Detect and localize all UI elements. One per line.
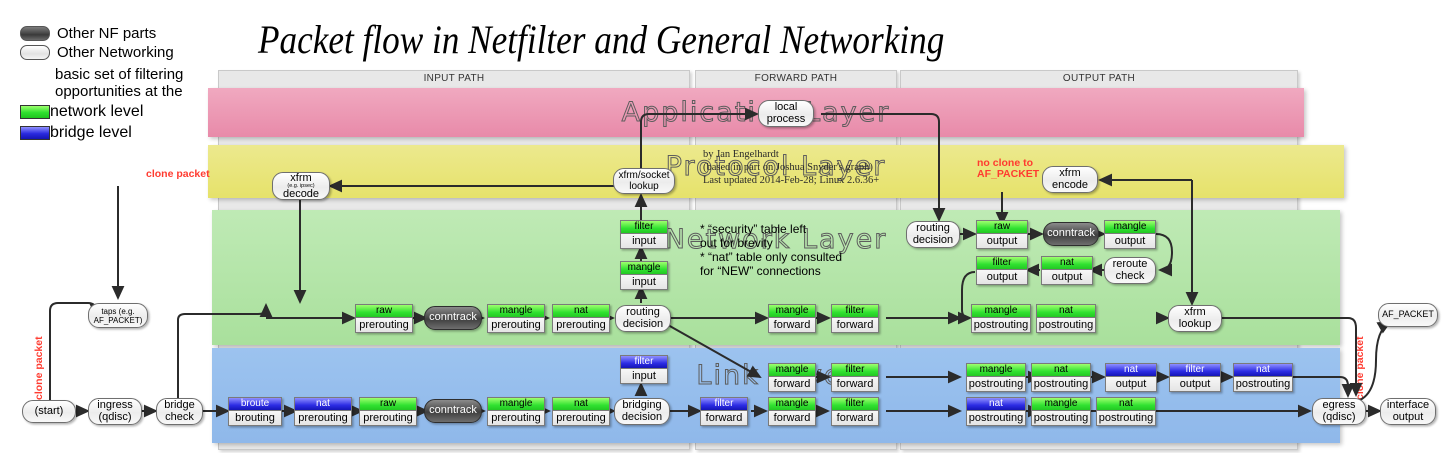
chain-nat-prerouting-bridge: nat prerouting <box>294 397 352 426</box>
chain-table-label: mangle <box>769 398 815 411</box>
chain-hook-label: output <box>1105 234 1155 249</box>
chain-filter-forward-net: filter forward <box>831 304 879 333</box>
chain-mangle-forward-net: mangle forward <box>768 304 816 333</box>
chain-hook-label: prerouting <box>295 411 351 426</box>
chain-table-label: nat <box>967 398 1025 411</box>
chain-table-label: raw <box>977 221 1027 234</box>
node-taps-af-packet: taps (e.g. AF_PACKET) <box>88 303 148 328</box>
legend-item-other-networking: Other Networking <box>20 43 220 62</box>
chain-table-label: nat <box>553 398 609 411</box>
chain-table-label: mangle <box>1032 398 1090 411</box>
path-header-output: OUTPUT PATH <box>901 71 1297 86</box>
chain-table-label: mangle <box>1105 221 1155 234</box>
path-header-forward: FORWARD PATH <box>696 71 896 86</box>
chain-table-label: nat <box>1032 364 1090 377</box>
network-level-swatch-icon <box>20 105 50 119</box>
chain-mangle-forward-link-lower: mangle forward <box>768 397 816 426</box>
chain-hook-label: postrouting <box>1032 411 1090 426</box>
node-ingress-qdisc: ingress (qdisc) <box>88 398 142 425</box>
legend-label-bridge-level: bridge level <box>50 124 132 142</box>
chain-table-label: nat <box>295 398 351 411</box>
chain-broute-brouting: broute brouting <box>228 397 282 426</box>
legend-label-network-level: network level <box>50 103 143 121</box>
chain-hook-label: brouting <box>229 411 281 426</box>
chain-table-label: raw <box>356 305 412 318</box>
chain-mangle-input-net: mangle input <box>620 261 668 290</box>
chain-hook-label: forward <box>832 411 878 426</box>
chain-hook-label: prerouting <box>356 318 412 333</box>
chain-table-label: nat <box>1234 364 1292 377</box>
chain-table-label: nat <box>1042 257 1092 270</box>
chain-hook-label: output <box>1170 377 1220 392</box>
chain-mangle-forward-link-upper: mangle forward <box>768 363 816 392</box>
chain-mangle-prerouting-link: mangle prerouting <box>487 397 545 426</box>
chain-table-label: filter <box>977 257 1027 270</box>
node-start: (start) <box>22 400 76 423</box>
chain-hook-label: input <box>621 275 667 290</box>
chain-table-label: filter <box>621 221 667 234</box>
chain-table-label: mangle <box>488 398 544 411</box>
xfrm-decode-line2: decode <box>283 189 319 199</box>
chain-table-label: nat <box>1097 398 1155 411</box>
chain-raw-prerouting-link: raw prerouting <box>359 397 417 426</box>
chain-mangle-prerouting-net: mangle prerouting <box>487 304 545 333</box>
node-conntrack-input-net: conntrack <box>424 306 482 330</box>
annotation-clone-packet-left: clone packet <box>34 336 45 400</box>
other-networking-pill-icon <box>20 45 50 60</box>
node-xfrm-lookup: xfrm lookup <box>1168 305 1222 332</box>
chain-hook-label: postrouting <box>1037 318 1095 333</box>
chain-nat-postrouting-net: nat postrouting <box>1036 304 1096 333</box>
chain-nat-output: nat output <box>1041 256 1093 285</box>
chain-hook-label: forward <box>832 377 878 392</box>
legend-label-other-networking: Other Networking <box>57 44 174 61</box>
chain-hook-label: prerouting <box>553 411 609 426</box>
node-interface-output: interface output <box>1380 398 1436 425</box>
chain-table-label: broute <box>229 398 281 411</box>
legend-item-network-level: network level <box>20 102 220 121</box>
chain-raw-prerouting-net: raw prerouting <box>355 304 413 333</box>
annotation-clone-packet-top: clone packet <box>146 169 210 180</box>
chain-hook-label: forward <box>832 318 878 333</box>
chain-filter-forward-bridge: filter forward <box>700 397 748 426</box>
path-header-input: INPUT PATH <box>219 71 689 86</box>
chain-table-label: filter <box>832 305 878 318</box>
chain-hook-label: prerouting <box>360 411 416 426</box>
chain-filter-input-link: filter input <box>620 355 668 384</box>
nf-part-pill-icon <box>20 26 50 41</box>
bridge-level-swatch-icon <box>20 126 50 140</box>
chain-hook-label: input <box>621 369 667 384</box>
diagram-canvas: Other NF parts Other Networking basic se… <box>0 0 1446 453</box>
node-routing-decision-output: routing decision <box>906 221 960 248</box>
chain-hook-label: forward <box>701 411 747 426</box>
chain-table-label: mangle <box>769 364 815 377</box>
chain-mangle-postrouting-link-lower: mangle postrouting <box>1031 397 1091 426</box>
node-egress-qdisc: egress (qdisc) <box>1312 398 1366 425</box>
chain-nat-postrouting-link-upper: nat postrouting <box>1031 363 1091 392</box>
chain-hook-label: postrouting <box>1032 377 1090 392</box>
chain-nat-postrouting-bridge-upper: nat postrouting <box>1233 363 1293 392</box>
chain-table-label: filter <box>621 356 667 369</box>
chain-hook-label: prerouting <box>553 318 609 333</box>
chain-hook-label: prerouting <box>488 411 544 426</box>
node-local-process: local process <box>758 100 814 127</box>
page-title: Packet flow in Netfilter and General Net… <box>258 18 909 62</box>
node-bridge-check: bridge check <box>156 398 203 425</box>
chain-nat-postrouting-link-lower: nat postrouting <box>1096 397 1156 426</box>
chain-table-label: filter <box>1170 364 1220 377</box>
chain-hook-label: forward <box>769 377 815 392</box>
node-reroute-check: reroute check <box>1104 257 1156 284</box>
chain-hook-label: postrouting <box>1234 377 1292 392</box>
chain-hook-label: prerouting <box>488 318 544 333</box>
chain-hook-label: postrouting <box>967 377 1025 392</box>
chain-nat-prerouting-net: nat prerouting <box>552 304 610 333</box>
legend-item-bridge-level: bridge level <box>20 123 220 142</box>
chain-table-label: mangle <box>488 305 544 318</box>
chain-filter-forward-link-upper: filter forward <box>831 363 879 392</box>
annotation-no-clone-af-packet: no clone to AF_PACKET <box>977 158 1039 180</box>
chain-nat-postrouting-bridge-lower: nat postrouting <box>966 397 1026 426</box>
legend-label-nf-parts: Other NF parts <box>57 25 156 42</box>
chain-hook-label: postrouting <box>972 318 1030 333</box>
chain-filter-input-net: filter input <box>620 220 668 249</box>
chain-table-label: mangle <box>621 262 667 275</box>
chain-table-label: nat <box>553 305 609 318</box>
node-xfrm-decode: xfrm (e.g. ipsec) decode <box>272 172 330 200</box>
legend: Other NF parts Other Networking basic se… <box>20 24 220 142</box>
node-conntrack-output: conntrack <box>1043 222 1099 246</box>
layer-label-application: Application Layer <box>208 97 1304 128</box>
chain-filter-output: filter output <box>976 256 1028 285</box>
chain-hook-label: forward <box>769 411 815 426</box>
chain-table-label: filter <box>701 398 747 411</box>
chain-hook-label: forward <box>769 318 815 333</box>
annotation-clone-packet-right: clone packet <box>1355 336 1366 400</box>
node-xfrm-socket-lookup: xfrm/socket lookup <box>613 168 675 194</box>
chain-mangle-postrouting-link-upper: mangle postrouting <box>966 363 1026 392</box>
chain-mangle-output: mangle output <box>1104 220 1156 249</box>
chain-table-label: nat <box>1037 305 1095 318</box>
chain-table-label: mangle <box>769 305 815 318</box>
chain-hook-label: output <box>977 234 1027 249</box>
node-bridging-decision: bridging decision <box>614 398 670 425</box>
chain-hook-label: output <box>977 270 1027 285</box>
chain-hook-label: output <box>1042 270 1092 285</box>
chain-filter-forward-link-lower: filter forward <box>831 397 879 426</box>
chain-table-label: filter <box>832 398 878 411</box>
chain-nat-prerouting-link: nat prerouting <box>552 397 610 426</box>
chain-hook-label: postrouting <box>967 411 1025 426</box>
node-xfrm-encode: xfrm encode <box>1042 166 1098 193</box>
chain-table-label: mangle <box>967 364 1025 377</box>
node-af-packet: AF_PACKET <box>1378 303 1438 327</box>
node-conntrack-input-link: conntrack <box>424 399 482 423</box>
chain-hook-label: output <box>1106 377 1156 392</box>
chain-table-label: filter <box>832 364 878 377</box>
chain-filter-output-bridge: filter output <box>1169 363 1221 392</box>
legend-note: basic set of filtering opportunities at … <box>55 66 220 100</box>
chain-hook-label: input <box>621 234 667 249</box>
chain-mangle-postrouting-net: mangle postrouting <box>971 304 1031 333</box>
xfrm-decode-line1: xfrm <box>290 173 311 183</box>
chain-raw-output: raw output <box>976 220 1028 249</box>
chain-nat-output-bridge: nat output <box>1105 363 1157 392</box>
layer-band-application: Application Layer <box>208 88 1304 137</box>
footnotes-text: * “security” table left out for brevity … <box>700 222 900 278</box>
legend-item-nf-parts: Other NF parts <box>20 24 220 43</box>
node-routing-decision-input: routing decision <box>615 305 671 332</box>
chain-hook-label: postrouting <box>1097 411 1155 426</box>
chain-table-label: mangle <box>972 305 1030 318</box>
chain-table-label: raw <box>360 398 416 411</box>
credits-text: by Jan Engelhardt (based in part on Josh… <box>703 148 893 187</box>
chain-table-label: nat <box>1106 364 1156 377</box>
